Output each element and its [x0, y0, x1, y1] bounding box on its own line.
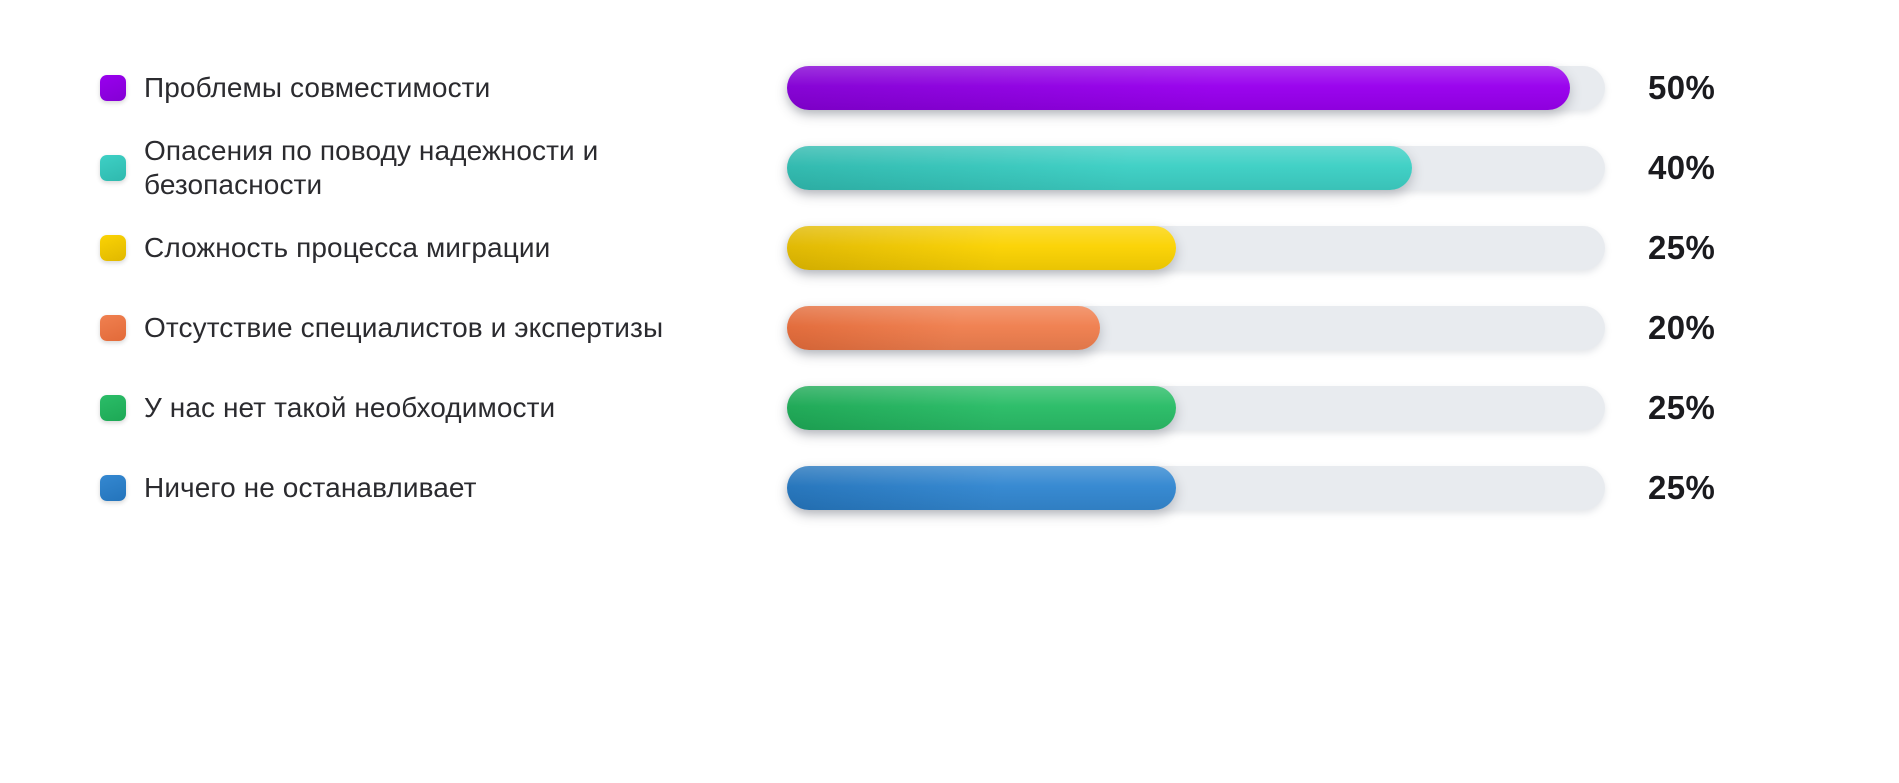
- legend-color-swatch: [100, 75, 126, 101]
- legend-color-swatch: [100, 395, 126, 421]
- chart-row: У нас нет такой необходимости25%: [0, 368, 1899, 448]
- progress-bar-fill: [787, 306, 1100, 350]
- value-label: 25%: [1648, 226, 1715, 270]
- legend-entry: Отсутствие специалистов и экспертизы: [100, 288, 760, 368]
- progress-bar-fill: [787, 386, 1176, 430]
- progress-bar-chart: Проблемы совместимости50%Опасения по пов…: [0, 0, 1899, 783]
- progress-bar-fill: [787, 466, 1176, 510]
- legend-label: Отсутствие специалистов и экспертизы: [144, 311, 663, 345]
- legend-color-swatch: [100, 475, 126, 501]
- progress-track: [787, 66, 1605, 110]
- legend-label: Ничего не останавливает: [144, 471, 477, 505]
- value-label: 25%: [1648, 466, 1715, 510]
- legend-label: У нас нет такой необходимости: [144, 391, 555, 425]
- legend-color-swatch: [100, 315, 126, 341]
- progress-track: [787, 146, 1605, 190]
- chart-row: Сложность процесса миграции25%: [0, 208, 1899, 288]
- progress-bar-fill: [787, 146, 1412, 190]
- progress-bar-fill: [787, 226, 1176, 270]
- legend-entry: Сложность процесса миграции: [100, 208, 760, 288]
- progress-track: [787, 226, 1605, 270]
- legend-color-swatch: [100, 235, 126, 261]
- legend-label: Сложность процесса миграции: [144, 231, 550, 265]
- legend-label: Проблемы совместимости: [144, 71, 490, 105]
- legend-entry: Проблемы совместимости: [100, 48, 760, 128]
- progress-bar-fill: [787, 66, 1570, 110]
- progress-track: [787, 386, 1605, 430]
- legend-label: Опасения по поводу надежности и безопасн…: [144, 134, 744, 202]
- legend-entry: Ничего не останавливает: [100, 448, 760, 528]
- value-label: 50%: [1648, 66, 1715, 110]
- chart-row: Опасения по поводу надежности и безопасн…: [0, 128, 1899, 208]
- chart-row: Ничего не останавливает25%: [0, 448, 1899, 528]
- chart-row: Отсутствие специалистов и экспертизы20%: [0, 288, 1899, 368]
- value-label: 20%: [1648, 306, 1715, 350]
- progress-track: [787, 306, 1605, 350]
- chart-row: Проблемы совместимости50%: [0, 48, 1899, 128]
- progress-track: [787, 466, 1605, 510]
- legend-entry: У нас нет такой необходимости: [100, 368, 760, 448]
- value-label: 25%: [1648, 386, 1715, 430]
- value-label: 40%: [1648, 146, 1715, 190]
- legend-entry: Опасения по поводу надежности и безопасн…: [100, 128, 760, 208]
- legend-color-swatch: [100, 155, 126, 181]
